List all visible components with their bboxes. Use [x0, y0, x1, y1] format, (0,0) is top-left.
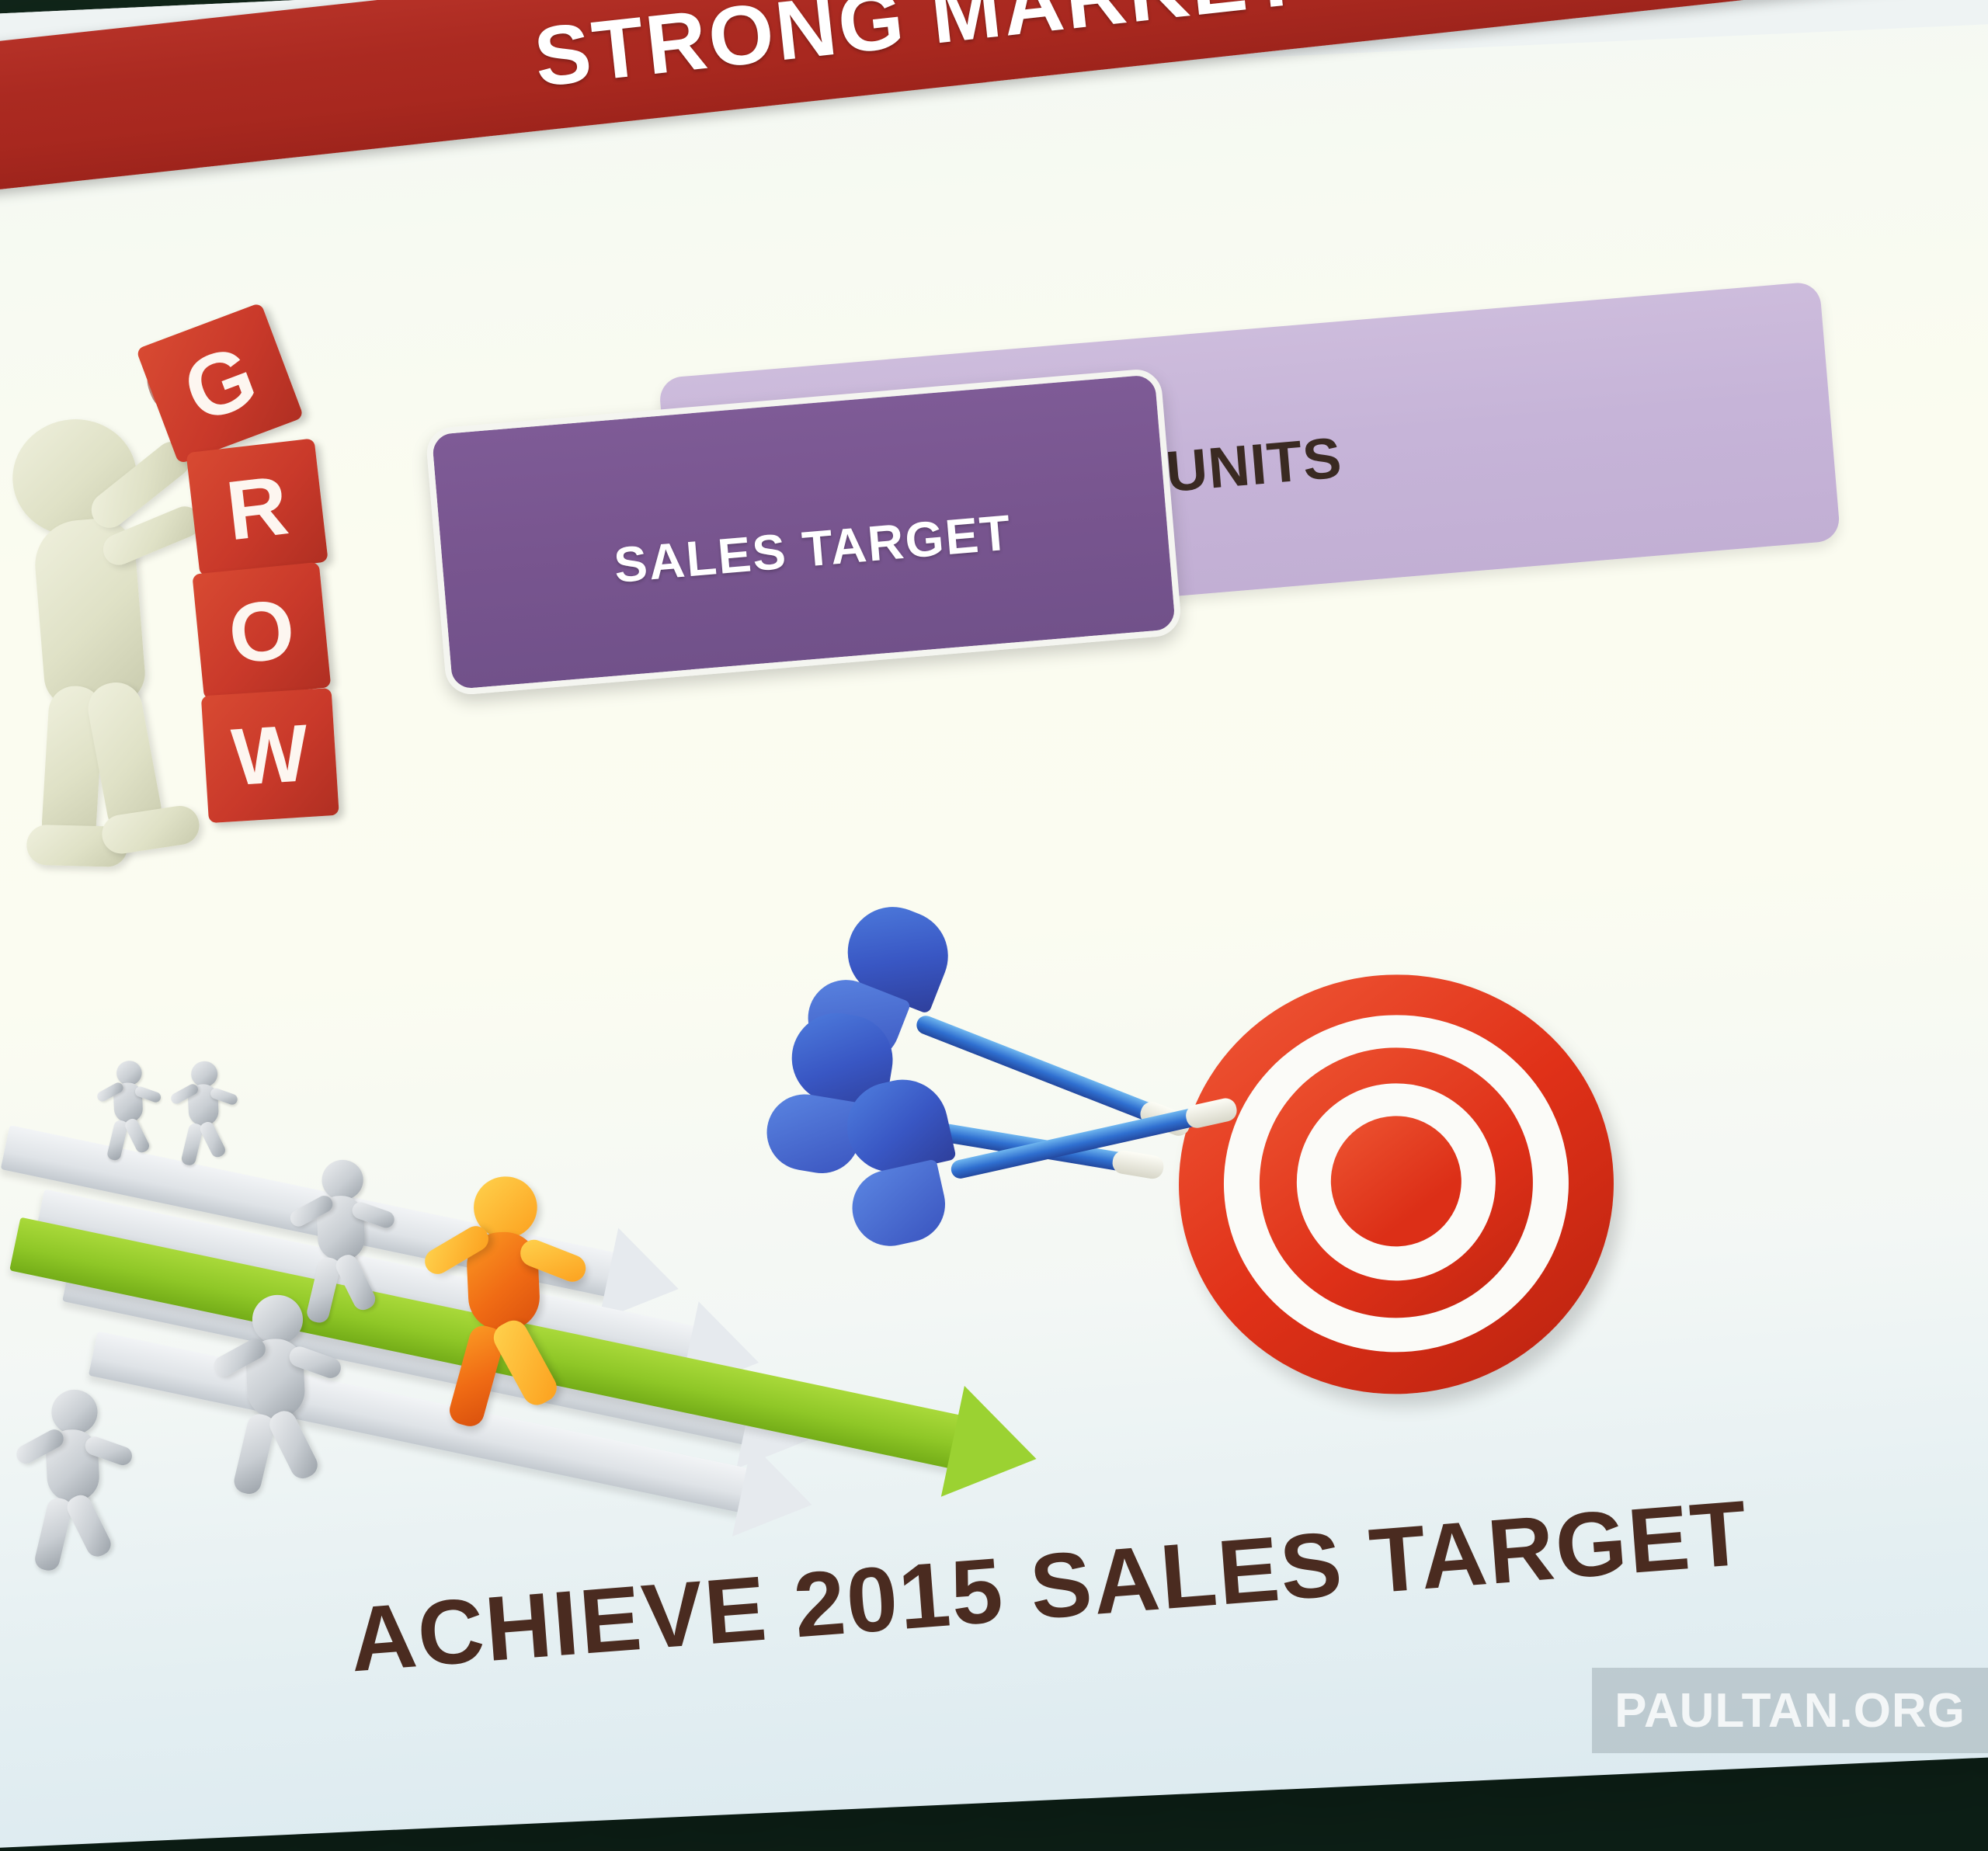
- grow-block-r: R: [186, 438, 328, 576]
- runner-leg-front: [123, 1117, 151, 1155]
- grow-block-o: O: [192, 562, 331, 700]
- runner-leg-front: [198, 1120, 228, 1159]
- runner-head: [50, 1389, 99, 1436]
- site-watermark: PAULTAN.ORG: [1592, 1668, 1988, 1753]
- sales-target-label-text: SALES TARGET: [612, 503, 1014, 594]
- projected-slide: STRONG MARKET G R O W G R O W 85,000UNIT…: [0, 0, 1988, 1848]
- grow-blocks-illustration: G R O W G R O W: [0, 314, 467, 922]
- slide-title-text: STRONG MARKET: [530, 0, 1307, 106]
- grow-block-w: W: [201, 688, 339, 823]
- site-watermark-text: PAULTAN.ORG: [1614, 1683, 1965, 1738]
- runner-leg-front: [64, 1492, 115, 1561]
- sales-target-label-card: SALES TARGET: [425, 367, 1183, 696]
- arrow-head-icon: [941, 1386, 1048, 1515]
- sales-target-row: 85,000UNITS SALES TARGET: [423, 289, 1848, 700]
- dartboard-illustration: [1169, 950, 1656, 1436]
- sales-target-unit: UNITS: [1163, 425, 1344, 504]
